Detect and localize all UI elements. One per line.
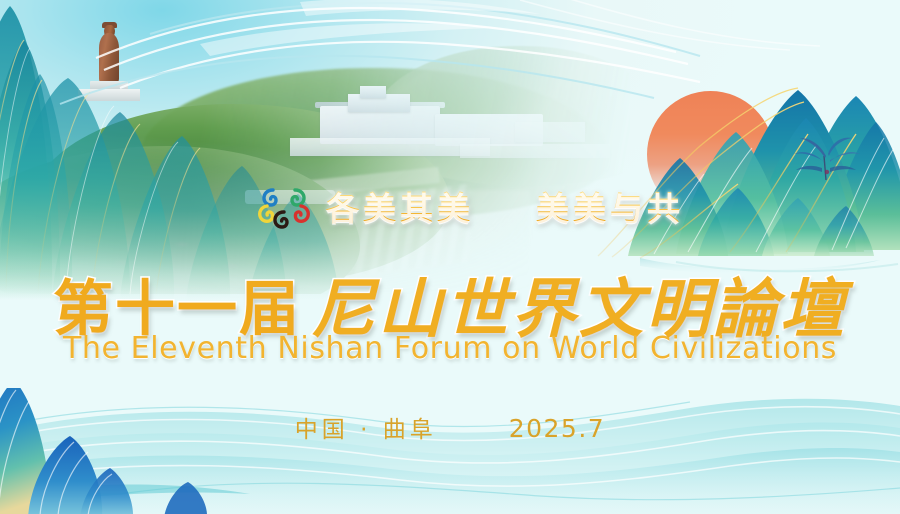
footer-meta: 中国 · 曲阜 2025.7 [0,410,900,444]
nishan-forum-poster: 各美其美 美美与共 第十一届尼山世界文明論壇 The Eleventh Nish… [0,0,900,514]
stylized-teal-mountains-left [0,0,400,300]
slogan-row: 各美其美 美美与共 [258,182,684,230]
page-title-en: The Eleventh Nishan Forum on World Civil… [0,331,900,366]
event-date: 2025.7 [509,414,605,443]
stylized-mountains-right [580,60,900,275]
slogan-text: 各美其美 美美与共 [326,182,684,230]
five-spiral-logo-icon [258,182,310,230]
event-location: 中国 · 曲阜 [295,410,437,444]
bottom-left-blue-peaks [0,388,318,514]
annex-building [515,122,585,142]
